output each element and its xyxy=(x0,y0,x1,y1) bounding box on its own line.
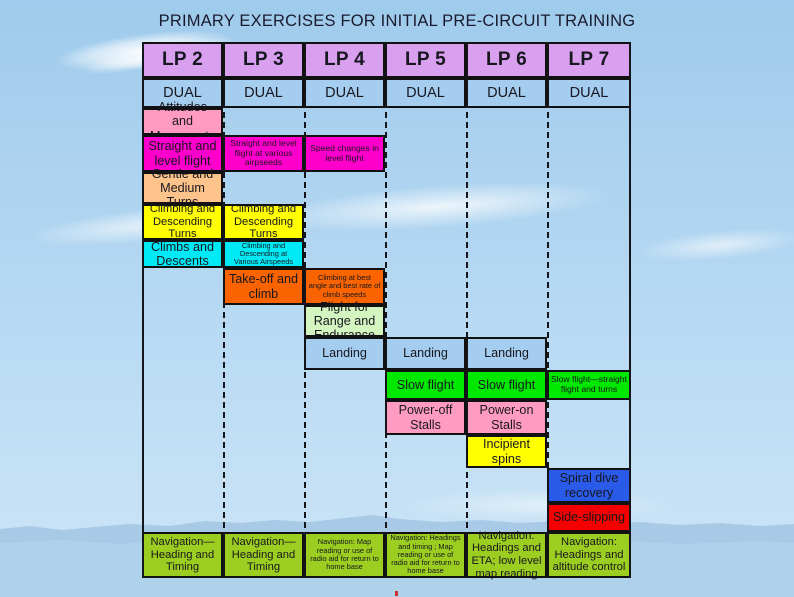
exercise-cell[interactable]: Gentle and Medium Turns xyxy=(142,172,223,204)
column-subheader-lp3: DUAL xyxy=(223,78,304,108)
column-subheader-lp6: DUAL xyxy=(466,78,547,108)
column-lp3: LP 3 DUAL Straight and level flight at v… xyxy=(223,42,304,578)
column-subheader-lp5: DUAL xyxy=(385,78,466,108)
exercise-cell[interactable]: Climbing and Descending at Various Airsp… xyxy=(223,240,304,268)
column-header-lp7: LP 7 xyxy=(547,42,631,78)
exercise-cell[interactable]: Climbing and Descending Turns xyxy=(142,204,223,240)
column-divider xyxy=(466,42,468,578)
column-divider xyxy=(547,42,549,578)
column-header-lp5: LP 5 xyxy=(385,42,466,78)
navigation-cell[interactable]: Navigation: Map reading or use of radio … xyxy=(304,532,385,578)
exercise-cell[interactable]: Straight and level flight at various air… xyxy=(223,135,304,172)
exercise-cell[interactable]: Attitudes and Movements xyxy=(142,108,223,135)
navigation-cell[interactable]: Navigation—Heading and Timing xyxy=(223,532,304,578)
column-header-lp4: LP 4 xyxy=(304,42,385,78)
exercise-cell[interactable]: Power-on Stalls xyxy=(466,400,547,435)
column-lp5: LP 5 DUAL Landing Slow flight Power-off … xyxy=(385,42,466,578)
page-title: PRIMARY EXERCISES FOR INITIAL PRE-CIRCUI… xyxy=(0,12,794,31)
table-right-border xyxy=(629,42,631,578)
exercise-cell[interactable]: Landing xyxy=(466,337,547,370)
column-lp2: LP 2 DUAL Attitudes and Movements Straig… xyxy=(142,42,223,578)
column-lp6: LP 6 DUAL Landing Slow flight Power-on S… xyxy=(466,42,547,578)
exercise-cell[interactable]: Landing xyxy=(304,337,385,370)
exercise-cell[interactable]: Flight for Range and Endurance xyxy=(304,305,385,337)
navigation-cell[interactable]: Navigation: Headings and timing ; Map re… xyxy=(385,532,466,578)
column-header-lp3: LP 3 xyxy=(223,42,304,78)
exercise-cell[interactable]: Slow flight xyxy=(385,370,466,400)
exercise-cell[interactable]: Speed changes in level flight xyxy=(304,135,385,172)
exercise-cell[interactable]: Climbing and Descending Turns xyxy=(223,204,304,240)
navigation-cell[interactable]: Navigation—Heading and Timing xyxy=(142,532,223,578)
exercise-cell[interactable]: Slow flight xyxy=(466,370,547,400)
exercise-cell[interactable]: Take-off and climb xyxy=(223,268,304,305)
column-divider xyxy=(304,42,306,578)
navigation-cell[interactable]: Navigation: Headings and altitude contro… xyxy=(547,532,631,578)
column-subheader-lp7: DUAL xyxy=(547,78,631,108)
column-header-lp6: LP 6 xyxy=(466,42,547,78)
column-divider xyxy=(223,42,225,578)
exercise-cell[interactable]: Spiral dive recovery xyxy=(547,468,631,503)
table-left-border xyxy=(142,42,144,578)
column-lp7: LP 7 DUAL Slow flight—straight flight an… xyxy=(547,42,631,578)
exercise-cell[interactable]: Landing xyxy=(385,337,466,370)
exercise-cell[interactable]: Incipient spins xyxy=(466,435,547,468)
exercise-cell[interactable]: Side-slipping xyxy=(547,503,631,532)
exercise-cell[interactable]: Slow flight—straight flight and turns xyxy=(547,370,631,400)
exercise-cell[interactable]: Power-off Stalls xyxy=(385,400,466,435)
navigation-cell[interactable]: Navigation: Headings and ETA; low level … xyxy=(466,532,547,578)
exercise-cell[interactable]: Climbs and Descents xyxy=(142,240,223,268)
column-subheader-lp4: DUAL xyxy=(304,78,385,108)
column-header-lp2: LP 2 xyxy=(142,42,223,78)
column-divider xyxy=(385,42,387,578)
training-schedule-table: LP 2 DUAL Attitudes and Movements Straig… xyxy=(142,42,631,578)
column-lp4: LP 4 DUAL Speed changes in level flight … xyxy=(304,42,385,578)
page-marker xyxy=(395,591,398,596)
